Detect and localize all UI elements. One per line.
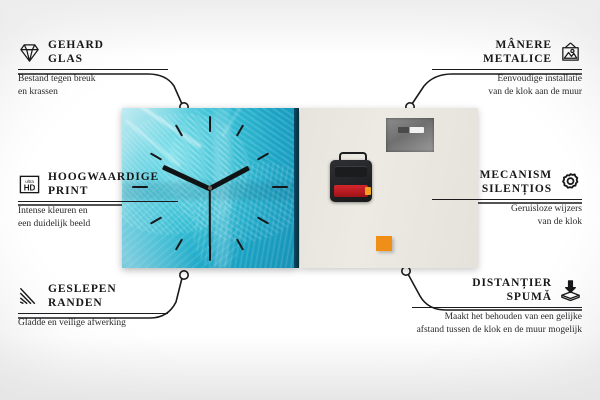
callout-title-line2: GLAS <box>48 52 104 66</box>
spacer-down-arrow-icon <box>559 279 582 302</box>
callout-subtitle-line2: afstand tussen de klok en de muur mogeli… <box>412 324 582 337</box>
hanging-picture-icon <box>559 41 582 64</box>
connector-endpoint-dot <box>402 267 410 275</box>
callout-header: MÂNERE METALICE <box>432 38 582 66</box>
callout-manere-metalice: MÂNERE METALICE Eenvoudige installatie v… <box>432 38 582 98</box>
callout-subtitle-line2: en krassen <box>18 86 168 99</box>
face-highlight-band <box>214 108 230 268</box>
clock-tick <box>209 245 211 261</box>
callout-header: MECANISM SILENȚIOS <box>432 168 582 196</box>
callout-rule <box>18 201 178 202</box>
callout-header: ultra HD HOOGWAARDIGE PRINT <box>18 170 178 198</box>
callout-title-line1: GESLEPEN <box>48 282 117 296</box>
callout-subtitle-line1: Bestand tegen breuk <box>18 73 168 86</box>
callout-title-line1: GEHARD <box>48 38 104 52</box>
callout-rule <box>18 313 168 314</box>
callout-title-line2: SPUMĂ <box>472 290 552 304</box>
clock-mechanism <box>330 160 372 202</box>
clock-glass-edge <box>294 108 299 268</box>
clock-tick <box>209 116 211 132</box>
clock-tick <box>272 186 288 188</box>
callout-rule <box>412 307 582 308</box>
metal-hanger-bracket <box>386 118 434 152</box>
callout-subtitle-line1: Maakt het behouden van een gelijke <box>412 311 582 324</box>
callout-title-line2: SILENȚIOS <box>480 182 552 196</box>
callout-subtitle-line2: van de klok <box>432 216 582 229</box>
callout-subtitle-line1: Intense kleuren en <box>18 205 178 218</box>
callout-subtitle-line2: een duidelijk beeld <box>18 218 178 231</box>
battery-terminal <box>365 187 371 195</box>
callout-title-line1: MÂNERE <box>483 38 552 52</box>
callout-mecanism-silentios: MECANISM SILENȚIOS Geruisloze wijzers va… <box>432 168 582 228</box>
callout-title-line2: RANDEN <box>48 296 117 310</box>
bevelled-edges-icon <box>18 285 41 308</box>
foam-spacer <box>376 236 392 251</box>
callout-subtitle-line1: Eenvoudige installatie <box>432 73 582 86</box>
hanger-slot <box>398 127 424 133</box>
gear-icon <box>559 171 582 194</box>
callout-title-line2: METALICE <box>483 52 552 66</box>
infographic-canvas: GEHARD GLAS Bestand tegen breuk en krass… <box>0 0 600 400</box>
callout-subtitle-line1: Geruisloze wijzers <box>432 203 582 216</box>
clock-second-hand <box>209 188 211 246</box>
callout-title-line1: MECANISM <box>480 168 552 182</box>
callout-hoogwaardige-print: ultra HD HOOGWAARDIGE PRINT Intense kleu… <box>18 170 178 230</box>
callout-header: GESLEPEN RANDEN <box>18 282 168 310</box>
callout-title-line2: PRINT <box>48 184 159 198</box>
callout-rule <box>18 69 168 70</box>
callout-rule <box>432 69 582 70</box>
callout-subtitle-line1: Gladde en veilige afwerking <box>18 317 168 330</box>
callout-subtitle-line2: van de klok aan de muur <box>432 86 582 99</box>
ultra-hd-icon: ultra HD <box>18 173 41 196</box>
callout-distantier-spuma: DISTANȚIER SPUMĂ Maakt het behouden van … <box>412 276 582 336</box>
callout-geslepen-randen: GESLEPEN RANDEN Gladde en veilige afwerk… <box>18 282 168 330</box>
clock-center-pin <box>208 186 212 190</box>
callout-title-line1: DISTANȚIER <box>472 276 552 290</box>
callout-title-line1: HOOGWAARDIGE <box>48 170 159 184</box>
svg-text:HD: HD <box>24 183 36 192</box>
diamond-icon <box>18 41 41 64</box>
callout-gehard-glas: GEHARD GLAS Bestand tegen breuk en krass… <box>18 38 168 98</box>
battery <box>334 185 368 197</box>
connector-endpoint-dot <box>180 271 188 279</box>
callout-rule <box>432 199 582 200</box>
callout-header: DISTANȚIER SPUMĂ <box>412 276 582 304</box>
mechanism-label <box>335 166 367 177</box>
callout-header: GEHARD GLAS <box>18 38 168 66</box>
